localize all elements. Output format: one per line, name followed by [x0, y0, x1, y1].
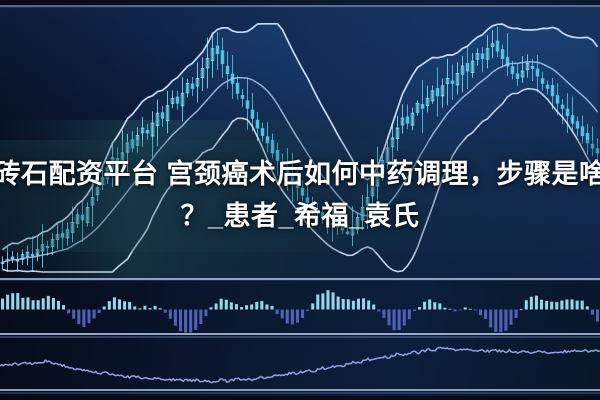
overlay-title-line-2: ？_患者_希福_袁氏	[180, 196, 419, 236]
overlay-title-line-1: 砖石配资平台 宫颈癌术后如何中药调理，步骤是啥	[0, 154, 600, 194]
chart-banner-image: 砖石配资平台 宫颈癌术后如何中药调理，步骤是啥 ？_患者_希福_袁氏	[0, 0, 600, 400]
histogram-panel-series	[1, 290, 599, 332]
subline-panel-series	[0, 347, 600, 382]
overlay-title: 砖石配资平台 宫颈癌术后如何中药调理，步骤是啥 ？_患者_希福_袁氏	[0, 132, 600, 258]
